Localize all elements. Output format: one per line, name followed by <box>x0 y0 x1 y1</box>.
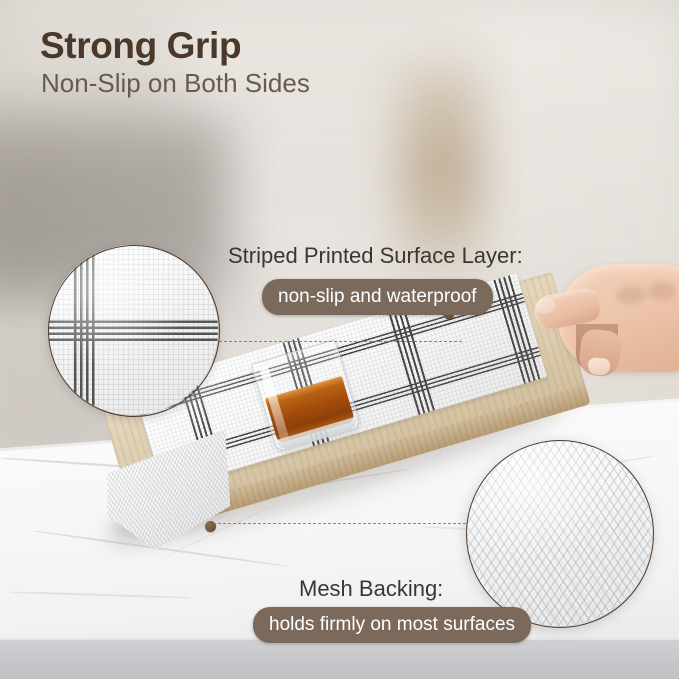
callout-pill-surface-layer: non-slip and waterproof <box>262 279 493 315</box>
connector-line-mesh <box>208 523 466 524</box>
callout-pill-mesh-backing: holds firmly on most surfaces <box>253 607 531 643</box>
detail-circle-plaid-swatch <box>48 245 218 415</box>
detail-circle-mesh-swatch <box>466 440 652 626</box>
hand-gripping-board <box>520 258 679 418</box>
product-feature-image: Strong Grip Non-Slip on Both Sides Strip… <box>0 0 679 679</box>
callout-title-surface-layer: Striped Printed Surface Layer: <box>228 245 523 267</box>
plaid-swatch-sheen <box>48 245 218 415</box>
mesh-swatch-sheen <box>466 440 652 626</box>
connector-line-surface <box>214 341 462 342</box>
counter-front-face <box>0 640 679 679</box>
callout-title-mesh-backing: Mesh Backing: <box>299 578 443 600</box>
page-subtitle: Non-Slip on Both Sides <box>41 70 310 96</box>
page-title: Strong Grip <box>40 27 241 64</box>
